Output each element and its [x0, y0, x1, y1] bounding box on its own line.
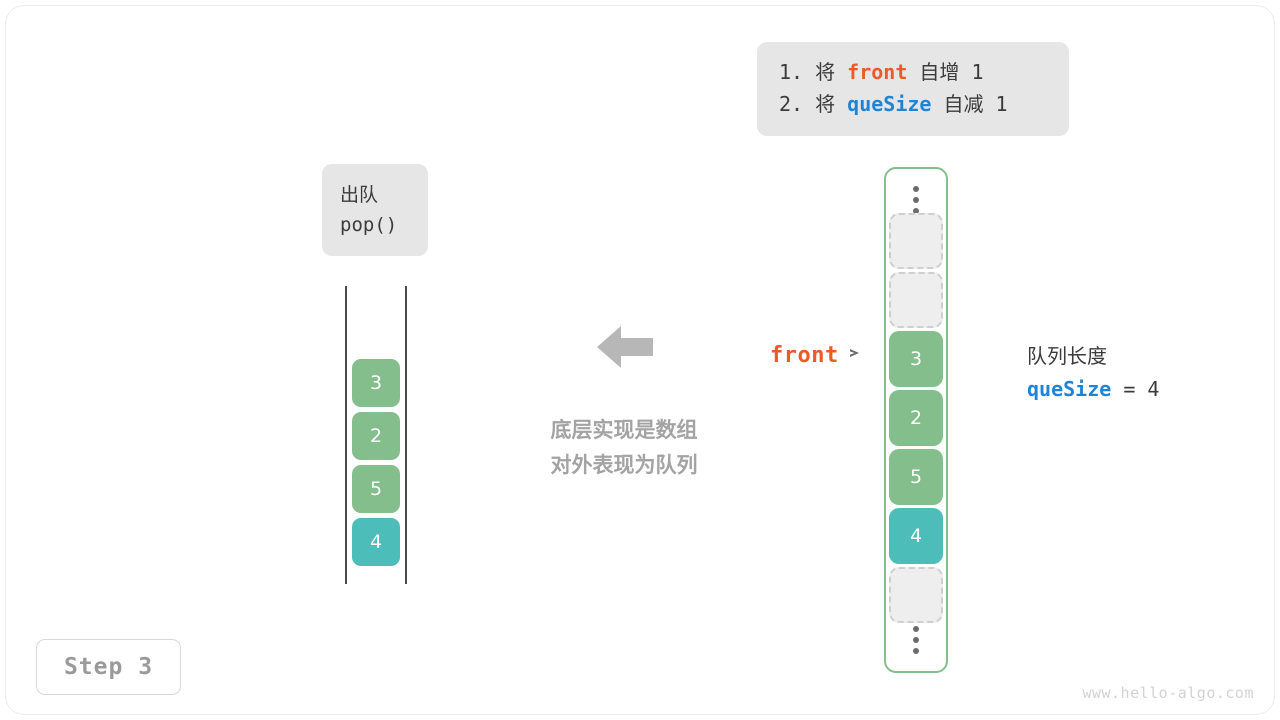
- instruction-line-2-index: 2. 将: [779, 92, 847, 116]
- front-pointer: front: [770, 343, 862, 368]
- diagram-canvas: 1. 将 front 自增 1 2. 将 queSize 自减 1 出队 pop…: [0, 0, 1280, 720]
- array-slot: 3: [889, 331, 943, 387]
- array-slot: 2: [889, 390, 943, 446]
- queue-cell: 2: [352, 412, 400, 460]
- instruction-line-1-tail: 自增 1: [907, 60, 983, 84]
- array-slot: 5: [889, 449, 943, 505]
- center-caption: 底层实现是数组 对外表现为队列: [508, 413, 740, 483]
- left-arrow-icon: [595, 322, 655, 372]
- logical-queue-cells: 3 2 5 4: [352, 359, 400, 566]
- instruction-line-2: 2. 将 queSize 自减 1: [779, 88, 1047, 120]
- center-caption-line-1: 底层实现是数组: [508, 413, 740, 448]
- chevron-right-icon: [848, 346, 862, 365]
- front-pointer-label: front: [770, 343, 839, 368]
- step-badge: Step 3: [36, 639, 181, 695]
- pop-operation-label: 出队 pop(): [322, 164, 428, 256]
- instruction-line-2-keyword: queSize: [847, 92, 931, 116]
- vertical-ellipsis-icon-top: [913, 186, 919, 214]
- vertical-ellipsis-icon-bottom: [913, 626, 919, 654]
- quesize-title: 队列长度: [1027, 340, 1159, 372]
- array-slot-empty: [889, 213, 943, 269]
- array-slot-empty: [889, 567, 943, 623]
- instruction-line-2-tail: 自减 1: [931, 92, 1007, 116]
- queue-cell: 4: [352, 518, 400, 566]
- queue-rail-right: [405, 286, 407, 584]
- center-caption-line-2: 对外表现为队列: [508, 448, 740, 483]
- quesize-equals: = 4: [1111, 377, 1159, 401]
- queue-cell: 3: [352, 359, 400, 407]
- queue-cell: 5: [352, 465, 400, 513]
- instruction-line-1-index: 1. 将: [779, 60, 847, 84]
- watermark: www.hello-algo.com: [1082, 684, 1254, 702]
- instruction-line-1-keyword: front: [847, 60, 907, 84]
- underlying-array: 3 2 5 4: [884, 167, 948, 673]
- array-slot-empty: [889, 272, 943, 328]
- pop-label-chinese: 出队: [340, 180, 378, 210]
- queue-rail-left: [345, 286, 347, 584]
- pop-label-code: pop(): [340, 210, 397, 240]
- instruction-note: 1. 将 front 自增 1 2. 将 queSize 自减 1: [757, 42, 1069, 136]
- quesize-value-line: queSize = 4: [1027, 372, 1159, 406]
- instruction-line-1: 1. 将 front 自增 1: [779, 56, 1047, 88]
- array-slot: 4: [889, 508, 943, 564]
- quesize-annotation: 队列长度 queSize = 4: [1027, 340, 1159, 406]
- logical-queue: 3 2 5 4: [345, 286, 409, 584]
- quesize-variable: queSize: [1027, 377, 1111, 401]
- step-badge-label: Step 3: [64, 654, 153, 680]
